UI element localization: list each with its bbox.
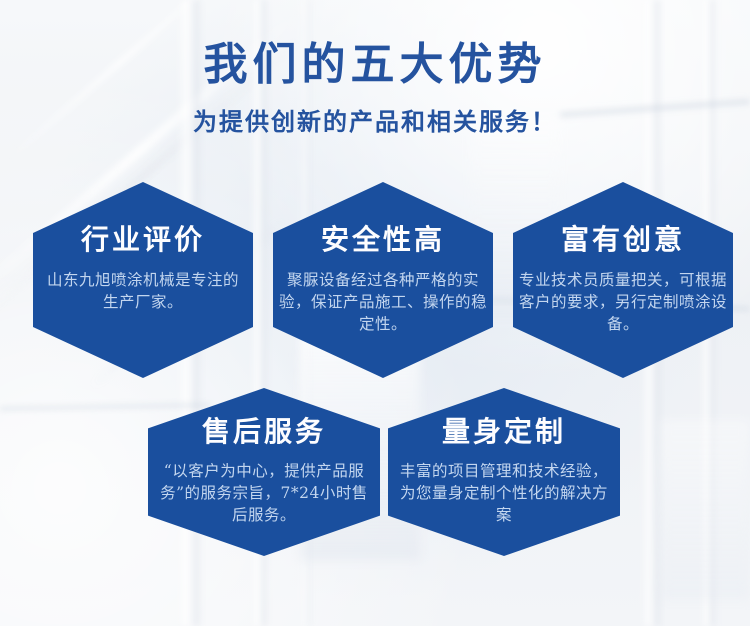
advantage-title: 量身定制	[442, 410, 566, 450]
advantage-body: 专业技术员质量把关，可根据客户的要求，另行定制喷涂设备。	[518, 269, 728, 335]
page-subtitle: 为提供创新的产品和相关服务！	[0, 102, 750, 137]
advantage-title: 行业评价	[81, 218, 205, 258]
advantage-body: “以客户为中心，提供产品服务”的服务宗旨，7*24小时售后服务。	[153, 460, 375, 526]
advantage-title: 安全性高	[321, 218, 445, 258]
advantage-title: 售后服务	[202, 410, 326, 450]
header: 我们的五大优势 为提供创新的产品和相关服务！	[0, 0, 750, 137]
advantage-title: 富有创意	[561, 218, 685, 258]
page-title: 我们的五大优势	[0, 42, 750, 88]
advantage-body: 聚脲设备经过各种严格的实验，保证产品施工、操作的稳定性。	[278, 269, 488, 335]
advantage-body: 山东九旭喷涂机械是专注的生产厂家。	[43, 269, 243, 313]
background-machinery	[660, 420, 750, 600]
advantage-body: 丰富的项目管理和技术经验，为您量身定制个性化的解决方案	[393, 460, 615, 526]
